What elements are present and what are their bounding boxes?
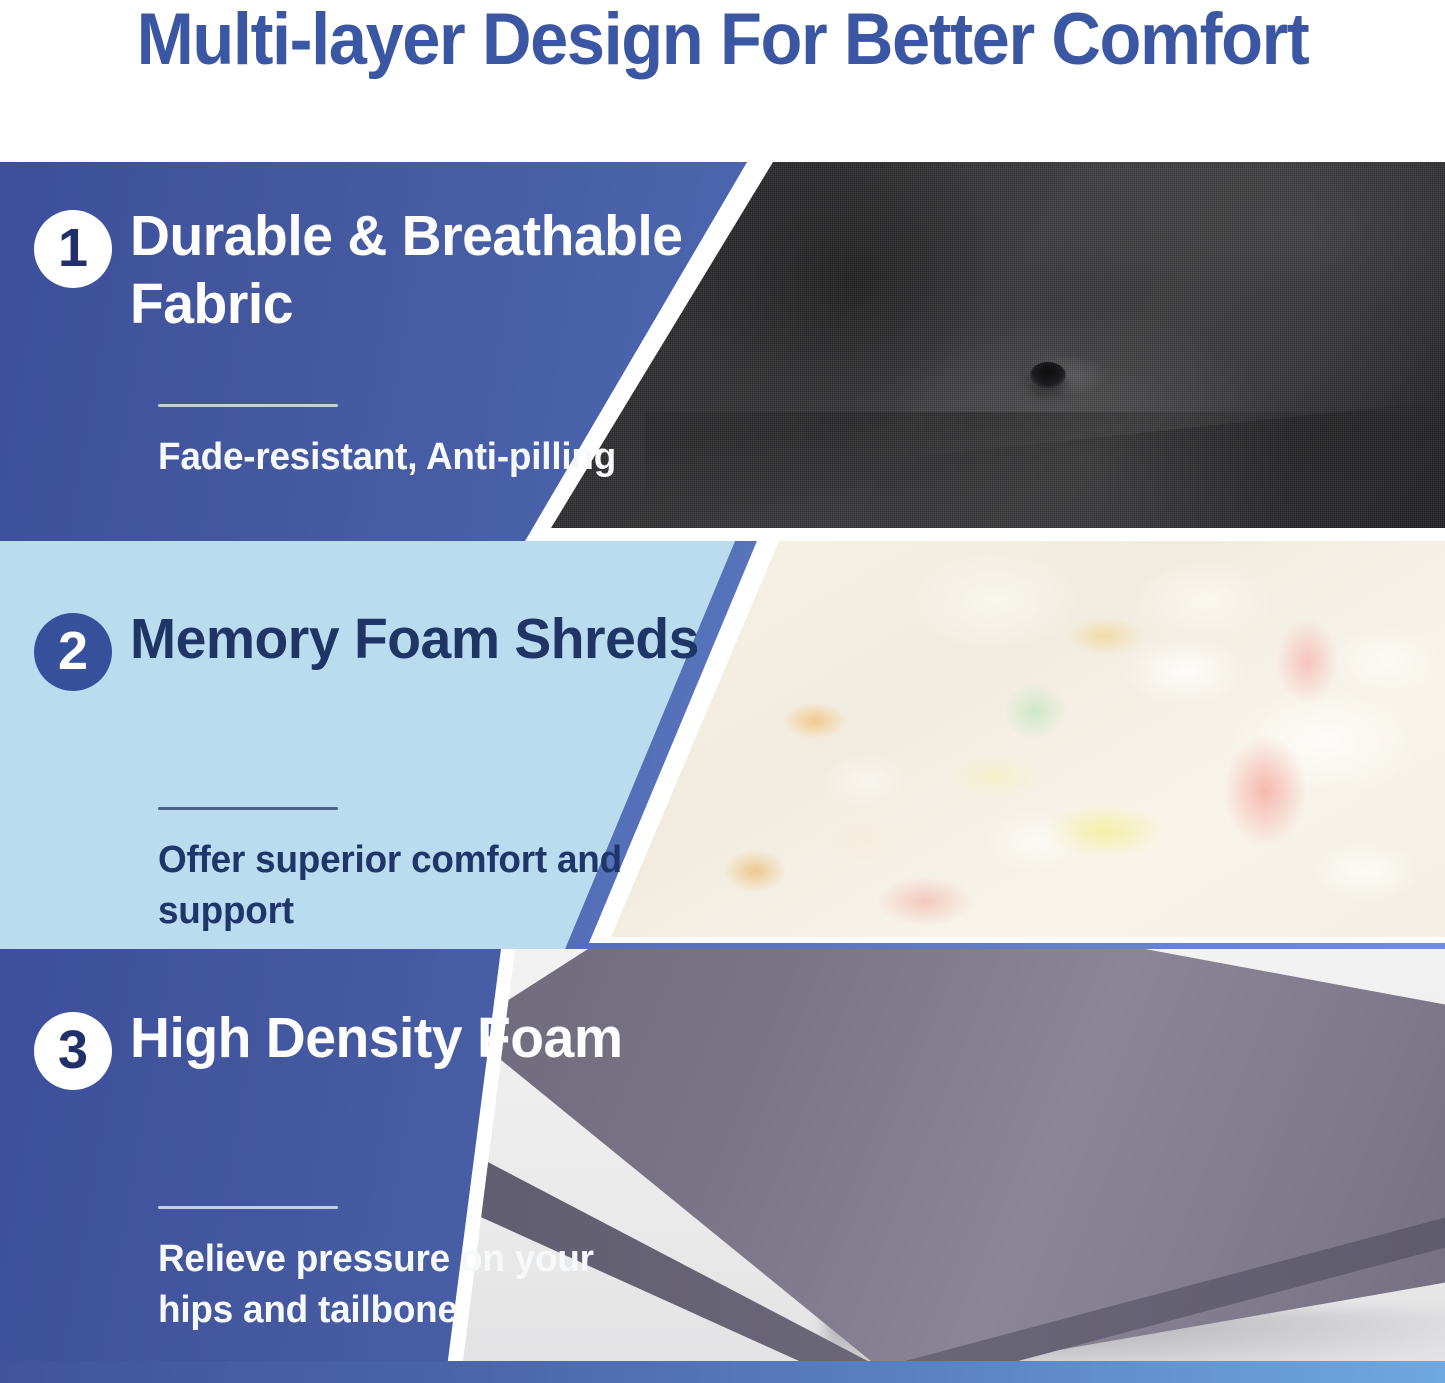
- cushion-tuft-button: [1030, 362, 1066, 388]
- feature-panel-memory-foam-shreds: 2 Memory Foam Shreds Offer superior comf…: [0, 541, 1445, 949]
- panel-3-divider: [158, 1206, 338, 1209]
- panel-1-subtext: Fade-resistant, Anti-pilling: [158, 432, 662, 483]
- header-band: Multi-layer Design For Better Comfort: [0, 0, 1445, 162]
- panel-1-divider: [158, 404, 338, 407]
- step-number-badge-3: 3: [34, 1012, 112, 1090]
- panel-3-subtext: Relieve pressure on your hips and tailbo…: [158, 1234, 662, 1336]
- feature-panel-durable-fabric: 1 Durable & Breathable Fabric Fade-resis…: [0, 162, 1445, 541]
- step-number-badge-1: 1: [34, 210, 112, 288]
- panel-2-subtext: Offer superior comfort and support: [158, 835, 662, 937]
- step-number-badge-2: 2: [34, 613, 112, 691]
- panel-3-headline: High Density Foam: [130, 1004, 712, 1072]
- multi-layer-design-infographic: Multi-layer Design For Better Comfort 1 …: [0, 0, 1445, 1383]
- page-title: Multi-layer Design For Better Comfort: [43, 0, 1401, 82]
- bottom-blue-strip: [0, 1361, 1445, 1383]
- panel-1-headline: Durable & Breathable Fabric: [130, 202, 712, 338]
- panel-2-divider: [158, 807, 338, 810]
- feature-panel-high-density-foam: 3 High Density Foam Relieve pressure on …: [0, 949, 1445, 1383]
- panel-2-headline: Memory Foam Shreds: [130, 605, 712, 673]
- fabric-shadow-seam: [645, 412, 1445, 541]
